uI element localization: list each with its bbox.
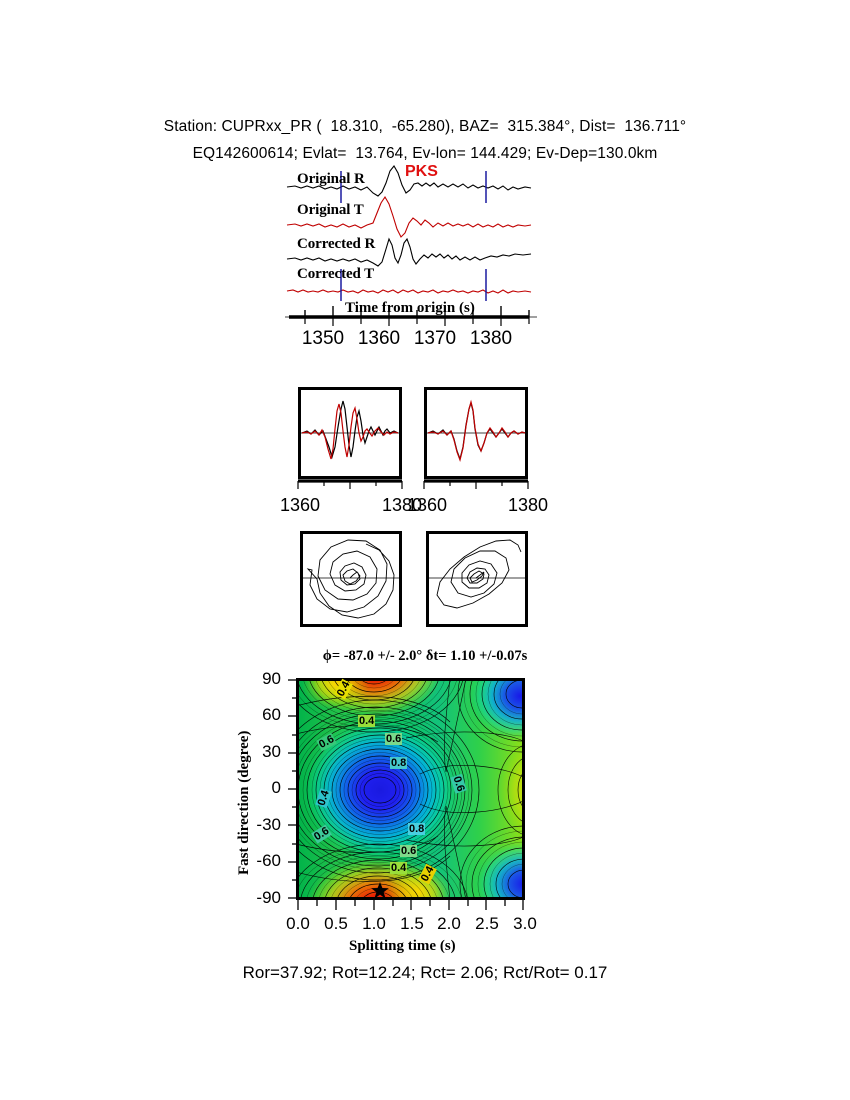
contour-title: ϕ= -87.0 +/- 2.0° δt= 1.10 +/-0.07s — [0, 648, 850, 665]
compare-right-tick-1380: 1380 — [500, 495, 556, 516]
compare-axis-right — [418, 478, 534, 494]
quality-metrics-line: Ror=37.92; Rot=12.24; Rct= 2.06; Rct/Rot… — [0, 963, 850, 983]
contour-label-06-top: 0.6 — [385, 733, 402, 745]
contour-label-08-top: 0.8 — [390, 757, 407, 769]
compare-right-tick-1360: 1360 — [399, 495, 455, 516]
contour-xtick-20: 2.0 — [429, 914, 469, 934]
trace-label-original-r: Original R — [297, 171, 365, 188]
contour-label-04-top: 0.4 — [358, 715, 375, 727]
contour-y-axis-label: Fast direction (degree) — [236, 731, 253, 875]
phase-label-pks: PKS — [405, 163, 438, 181]
fast-slow-panel-left — [298, 387, 402, 479]
contour-label-06-bottom: 0.6 — [400, 845, 417, 857]
contour-ytick-60: 60 — [251, 705, 281, 725]
contour-xtick-25: 2.5 — [467, 914, 507, 934]
fast-slow-panel-right — [424, 387, 528, 479]
compare-left-tick-1360: 1360 — [272, 495, 328, 516]
contour-xtick-00: 0.0 — [278, 914, 318, 934]
contour-ytick-90: 90 — [251, 669, 281, 689]
waveform-axis-title: Time from origin (s) — [345, 300, 475, 317]
contour-xtick-30: 3.0 — [505, 914, 545, 934]
waveform-tick-1360: 1360 — [351, 328, 407, 350]
particle-motion-corrected — [426, 531, 528, 627]
contour-ytick-m90: -90 — [245, 888, 281, 908]
waveform-tick-1370: 1370 — [407, 328, 463, 350]
contour-x-axis — [296, 900, 525, 914]
contour-xtick-05: 0.5 — [316, 914, 356, 934]
contour-label-08-bottom: 0.8 — [408, 823, 425, 835]
particle-motion-uncorrected — [300, 531, 402, 627]
station-info-line: Station: CUPRxx_PR ( 18.310, -65.280), B… — [0, 118, 850, 136]
event-info-line: EQ142600614; Evlat= 13.764, Ev-lon= 144.… — [0, 145, 850, 163]
contour-ytick-30: 30 — [251, 742, 281, 762]
waveform-tick-1380: 1380 — [463, 328, 519, 350]
trace-corrected-t — [287, 290, 531, 293]
figure-page: Station: CUPRxx_PR ( 18.310, -65.280), B… — [0, 0, 850, 1100]
contour-ytick-0: 0 — [251, 778, 281, 798]
contour-x-axis-label: Splitting time (s) — [349, 938, 456, 955]
trace-label-corrected-t: Corrected T — [297, 266, 374, 283]
energy-contour-plot — [296, 678, 525, 900]
trace-label-corrected-r: Corrected R — [297, 236, 375, 253]
contour-label-04-bottom: 0.4 — [390, 862, 407, 874]
contour-y-axis — [284, 678, 298, 900]
waveform-tick-1350: 1350 — [295, 328, 351, 350]
trace-label-original-t: Original T — [297, 202, 364, 219]
contour-xtick-10: 1.0 — [354, 914, 394, 934]
contour-xtick-15: 1.5 — [392, 914, 432, 934]
compare-axis-left — [292, 478, 408, 494]
